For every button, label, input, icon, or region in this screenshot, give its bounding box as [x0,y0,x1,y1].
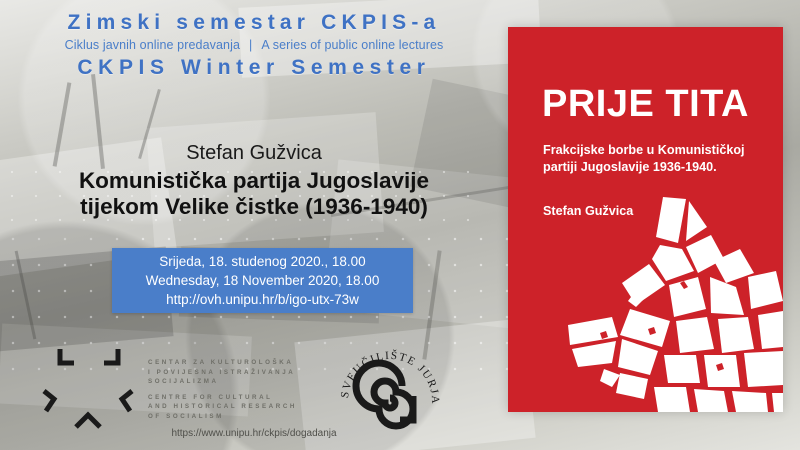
ckpis-name-hr: CENTAR ZA KULTUROLOŠKA I POVIJESNA ISTRA… [148,358,297,387]
lecture-title-line1: Komunistička partija Jugoslavije [0,168,508,194]
ckpis-name-en: CENTRE FOR CULTURAL AND HISTORICAL RESEA… [148,393,297,422]
footer-url[interactable]: https://www.unipu.hr/ckpis/dogadanja [0,428,508,439]
ckpis-name-hr-line3: SOCIJALIZMA [148,377,297,387]
shattered-glass-icon [508,197,783,412]
book-cover-subtitle-line2: partiji Jugoslavije 1936-1940. [543,159,771,176]
lecture-title-line2: tijekom Velike čistke (1936-1940) [0,194,508,220]
svg-text:SVEUČILIŠTE JURJA DOBRILE U PU: SVEUČILIŠTE JURJA DOBRILE U PULI [332,343,441,405]
ckpis-name-en-line1: CENTRE FOR CULTURAL [148,393,297,403]
ckpis-name-en-line2: AND HISTORICAL RESEARCH [148,402,297,412]
header-subtitle-hr: Ciklus javnih online predavanja [65,38,240,52]
ckpis-name-hr-line2: I POVIJESNA ISTRAŽIVANJA [148,368,297,378]
ckpis-name-en-line3: OF SOCIALISM [148,412,297,422]
header-subtitle-separator: | [240,38,261,52]
event-date-en: Wednesday, 18 November 2020, 18.00 [146,272,380,290]
header-subtitle: Ciklus javnih online predavanja|A series… [0,38,508,52]
ckpis-logo-text: CENTAR ZA KULTUROLOŠKA I POVIJESNA ISTRA… [148,358,297,427]
header-title-en: CKPIS Winter Semester [0,56,508,80]
event-stream-link[interactable]: http://ovh.unipu.hr/b/igo-utx-73w [166,291,359,309]
header-title-hr: Zimski semestar CKPIS-a [0,11,508,35]
book-cover-title: PRIJE TITA [542,83,749,126]
event-poster: Zimski semestar CKPIS-a Ciklus javnih on… [0,0,800,450]
ckpis-name-hr-line1: CENTAR ZA KULTUROLOŠKA [148,358,297,368]
header-subtitle-en: A series of public online lectures [261,38,443,52]
ckpis-logo-icon [40,345,138,433]
book-cover-subtitle-line1: Frakcijske borbe u Komunističkoj [543,142,771,159]
speaker-name: Stefan Gužvica [0,142,508,165]
university-logo-text: SVEUČILIŠTE JURJA DOBRILE U PULI [332,343,441,405]
book-cover: PRIJE TITA Frakcijske borbe u Komunistič… [508,27,783,412]
event-date-hr: Srijeda, 18. studenog 2020., 18.00 [159,253,365,271]
event-details-box: Srijeda, 18. studenog 2020., 18.00 Wedne… [112,248,413,313]
book-cover-subtitle: Frakcijske borbe u Komunističkoj partiji… [543,142,771,176]
